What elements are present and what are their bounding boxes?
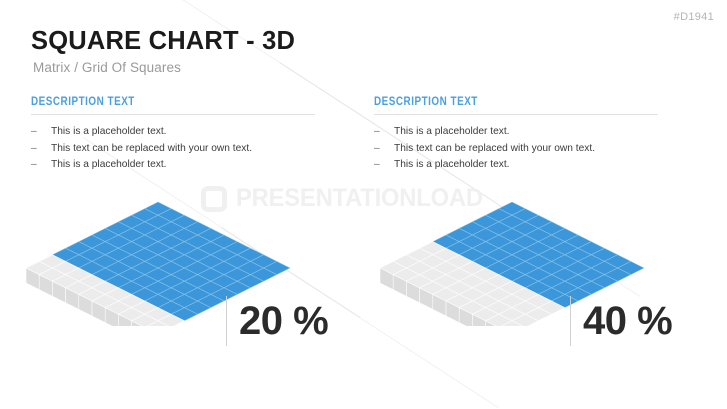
slide-code-label: #D1941 [674, 11, 714, 23]
description-heading: DESCRIPTION TEXT [374, 96, 641, 108]
list-item: – This is a placeholder text. [374, 124, 684, 141]
percent-display-right: 40 % [570, 296, 672, 346]
list-item: – This is a placeholder text. [31, 157, 341, 174]
percent-display-left: 20 % [226, 296, 328, 346]
list-item-label: This is a placeholder text. [51, 157, 167, 174]
bullet-list: – This is a placeholder text. – This tex… [31, 124, 341, 174]
list-item: – This is a placeholder text. [374, 157, 684, 174]
bullet-dash-icon: – [31, 157, 51, 174]
list-item-label: This text can be replaced with your own … [394, 141, 595, 158]
list-item: – This is a placeholder text. [31, 124, 341, 141]
description-block-right: DESCRIPTION TEXT – This is a placeholder… [374, 96, 684, 174]
list-item-label: This is a placeholder text. [394, 157, 510, 174]
list-item: – This text can be replaced with your ow… [374, 141, 684, 158]
description-divider [31, 114, 315, 115]
percent-divider [226, 296, 227, 346]
bullet-dash-icon: – [374, 124, 394, 141]
description-heading: DESCRIPTION TEXT [31, 96, 298, 108]
list-item-label: This is a placeholder text. [394, 124, 510, 141]
bullet-dash-icon: – [31, 141, 51, 158]
list-item-label: This text can be replaced with your own … [51, 141, 252, 158]
bullet-dash-icon: – [374, 141, 394, 158]
percent-value: 40 % [583, 301, 672, 341]
bullet-list: – This is a placeholder text. – This tex… [374, 124, 684, 174]
percent-divider [570, 296, 571, 346]
bullet-dash-icon: – [374, 157, 394, 174]
page-subtitle: Matrix / Grid Of Squares [33, 60, 181, 75]
page-title: SQUARE CHART - 3D [31, 27, 295, 56]
bullet-dash-icon: – [31, 124, 51, 141]
list-item-label: This is a placeholder text. [51, 124, 167, 141]
description-divider [374, 114, 658, 115]
description-block-left: DESCRIPTION TEXT – This is a placeholder… [31, 96, 341, 174]
list-item: – This text can be replaced with your ow… [31, 141, 341, 158]
percent-value: 20 % [239, 301, 328, 341]
